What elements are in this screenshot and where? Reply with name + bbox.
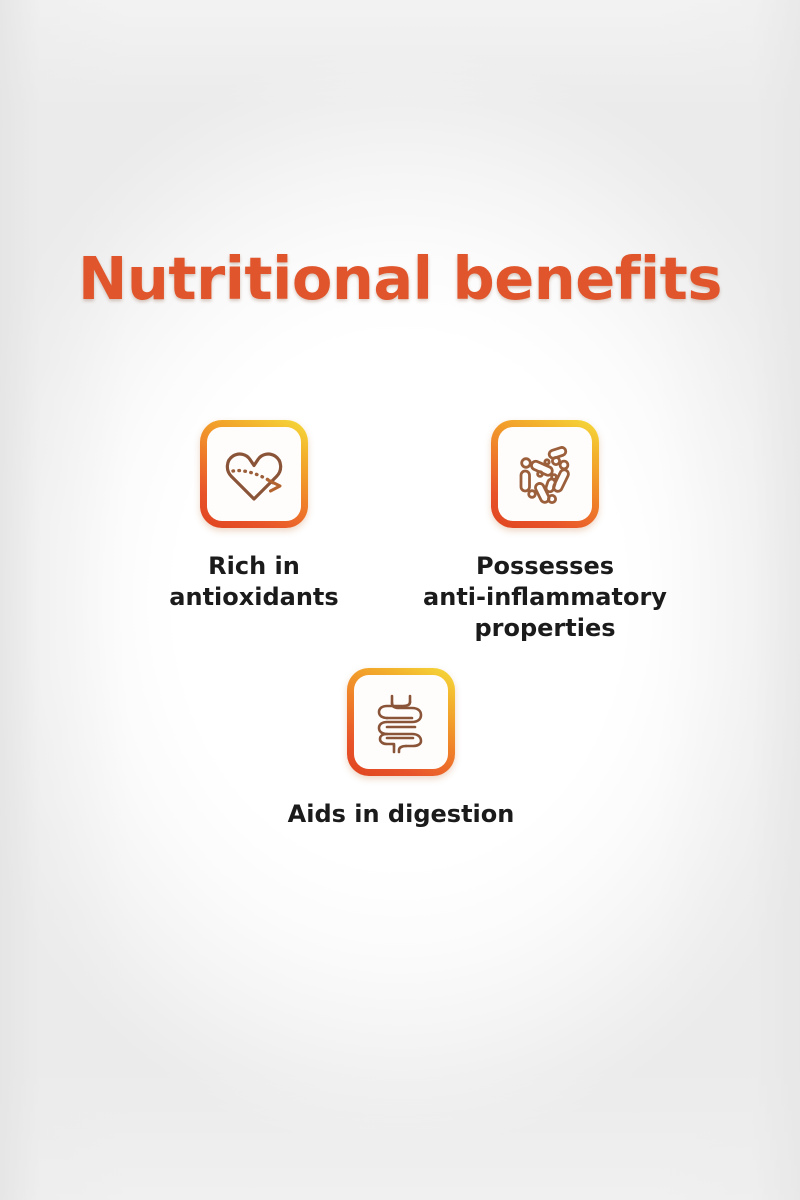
page-title: Nutritional benefits [0, 248, 800, 310]
heart-arrow-icon [218, 438, 290, 510]
icon-tile-inner [498, 427, 592, 521]
benefit-label-line: Aids in digestion [271, 799, 531, 830]
benefit-label-anti-inflammatory: Possesses anti-inflammatory properties [415, 551, 675, 645]
benefit-label-antioxidants: Rich in antioxidants [124, 551, 384, 613]
benefit-label-line: Possesses [415, 551, 675, 582]
bacteria-icon [509, 438, 581, 510]
benefit-item-digestion: Aids in digestion [271, 668, 531, 830]
icon-tile-digestion [347, 668, 455, 776]
icon-tile-inner [207, 427, 301, 521]
benefit-label-line: properties [415, 613, 675, 644]
vignette-overlay [0, 0, 800, 1200]
benefit-item-anti-inflammatory: Possesses anti-inflammatory properties [415, 420, 675, 645]
icon-tile-inner [354, 675, 448, 769]
benefit-item-antioxidants: Rich in antioxidants [124, 420, 384, 613]
icon-tile-antioxidants [200, 420, 308, 528]
benefit-label-line: anti-inflammatory [415, 582, 675, 613]
icon-tile-anti-inflammatory [491, 420, 599, 528]
benefit-label-digestion: Aids in digestion [271, 799, 531, 830]
benefit-label-line: Rich in [124, 551, 384, 582]
intestine-icon [365, 686, 437, 758]
infographic-card: Nutritional benefits Rich in antioxidant… [0, 0, 800, 1200]
benefit-label-line: antioxidants [124, 582, 384, 613]
